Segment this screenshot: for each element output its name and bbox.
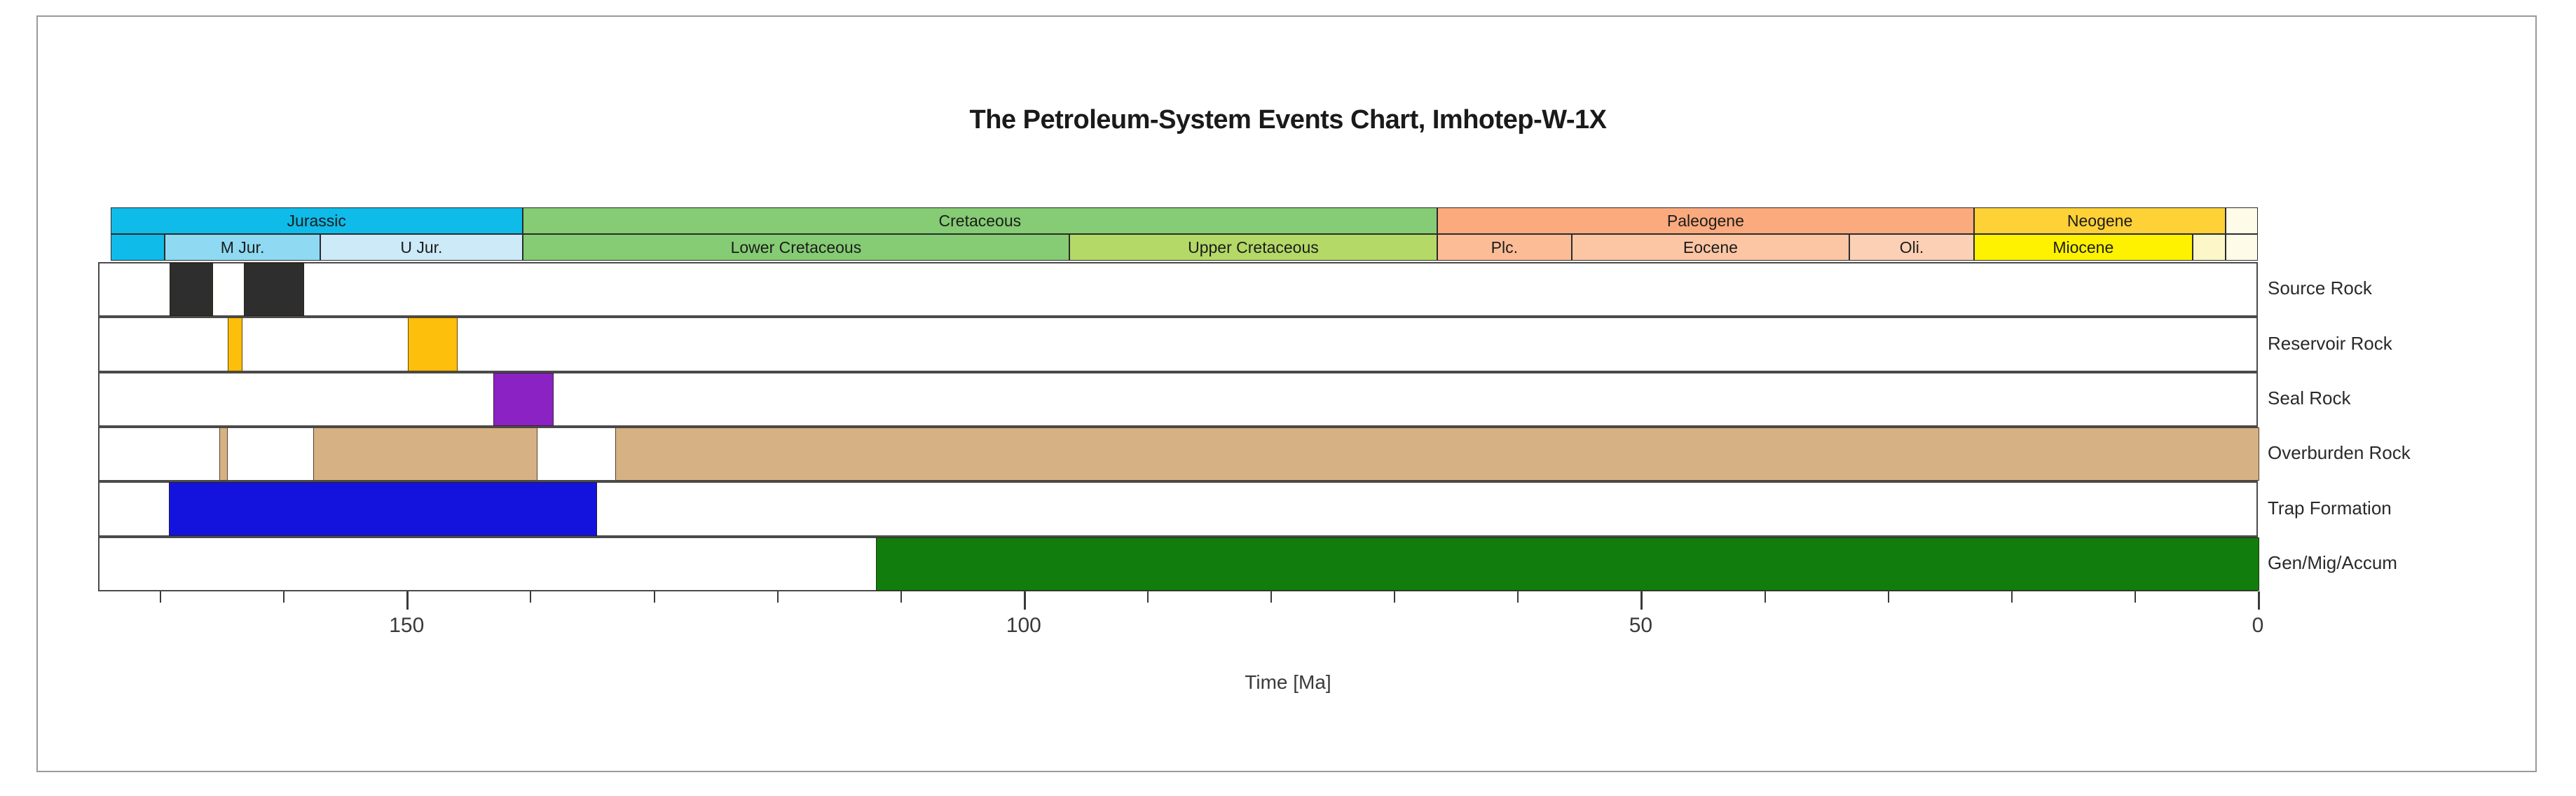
axis-tick-label: 0 (2252, 614, 2264, 638)
event-bar (244, 263, 304, 316)
timescale-period-label: Paleogene (1667, 212, 1744, 231)
timescale-epoch-label: Lower Cretaceous (731, 238, 862, 257)
timescale-epoch-miocene: Miocene (1974, 234, 2193, 261)
timescale-epoch-label: Upper Cretaceous (1188, 238, 1319, 257)
row-label-reservoir-rock: Reservoir Rock (2268, 333, 2392, 355)
timescale-period-paleogene: Paleogene (1437, 207, 1974, 234)
timescale-epoch-unlabeled-10 (2226, 234, 2258, 261)
axis-tick-label: 100 (1006, 614, 1041, 638)
timescale-period-jurassic: Jurassic (111, 207, 523, 234)
axis-minor-tick (530, 591, 531, 603)
event-bar (615, 427, 2259, 481)
timescale-epoch-label: Miocene (2053, 238, 2113, 257)
timescale-epoch-label: Oli. (1900, 238, 1924, 257)
timescale-period-row: JurassicCretaceousPaleogeneNeogene (98, 207, 2258, 234)
row-label-gen-mig-accum: Gen/Mig/Accum (2268, 552, 2397, 574)
event-bar (493, 373, 554, 426)
event-bar (219, 427, 228, 481)
chart-plot-area: JurassicCretaceousPaleogeneNeogene M Jur… (98, 207, 2258, 591)
axis-minor-tick (1394, 591, 1395, 603)
timescale-epoch-unlabeled-9 (2193, 234, 2226, 261)
event-row (98, 317, 2258, 371)
timescale-epoch-eocene: Eocene (1572, 234, 1849, 261)
event-row (98, 481, 2258, 536)
timescale-epoch-label: M Jur. (221, 238, 265, 257)
axis-minor-tick (2135, 591, 2136, 603)
timescale-period-cretaceous: Cretaceous (523, 207, 1437, 234)
row-label-overburden-rock: Overburden Rock (2268, 442, 2411, 464)
row-label-source-rock: Source Rock (2268, 277, 2372, 299)
timescale-epoch-label: Eocene (1683, 238, 1738, 257)
timescale-epoch-upper-cretaceous: Upper Cretaceous (1069, 234, 1437, 261)
timescale-period-unlabeled-4 (2226, 207, 2258, 234)
event-bar (169, 482, 597, 535)
event-bar (228, 317, 242, 371)
axis-minor-tick (160, 591, 161, 603)
axis-title: Time [Ma] (0, 671, 2576, 694)
event-bar (313, 427, 538, 481)
timescale-epoch-oli: Oli. (1849, 234, 1974, 261)
axis-minor-tick (654, 591, 655, 603)
axis-minor-tick (1270, 591, 1272, 603)
timescale-epoch-label: U Jur. (400, 238, 442, 257)
timescale-period-label: Cretaceous (939, 212, 1022, 231)
axis-tick-label: 150 (389, 614, 424, 638)
axis-minor-tick (900, 591, 902, 603)
timescale-period-label: Jurassic (287, 212, 346, 231)
row-label-trap-formation: Trap Formation (2268, 497, 2392, 519)
event-row (98, 372, 2258, 427)
event-row (98, 262, 2258, 317)
timescale-epoch-row: M Jur.U Jur.Lower CretaceousUpper Cretac… (98, 234, 2258, 261)
time-axis: 150100500 (98, 591, 2258, 592)
axis-major-tick (1640, 591, 1643, 610)
axis-minor-tick (1765, 591, 1766, 603)
event-row (98, 427, 2258, 481)
axis-minor-tick (1147, 591, 1149, 603)
timescale-epoch-u-jur: U Jur. (320, 234, 523, 261)
axis-minor-tick (283, 591, 285, 603)
axis-major-tick (406, 591, 409, 610)
timescale-epoch-lower-cretaceous: Lower Cretaceous (523, 234, 1069, 261)
axis-minor-tick (2011, 591, 2013, 603)
row-label-seal-rock: Seal Rock (2268, 387, 2351, 409)
axis-minor-tick (777, 591, 779, 603)
event-rows (98, 262, 2258, 591)
axis-major-tick (2258, 591, 2260, 610)
chart-title: The Petroleum-System Events Chart, Imhot… (0, 105, 2576, 135)
event-bar (876, 537, 2259, 591)
event-bar (408, 317, 457, 371)
timescale-epoch-plc: Plc. (1437, 234, 1572, 261)
axis-minor-tick (1888, 591, 1889, 603)
event-bar (170, 263, 213, 316)
timescale-epoch-unlabeled-0 (111, 234, 165, 261)
timescale-period-label: Neogene (2067, 212, 2132, 231)
timescale-epoch-label: Plc. (1491, 238, 1518, 257)
timescale-period-neogene: Neogene (1974, 207, 2226, 234)
axis-tick-label: 50 (1629, 614, 1652, 638)
axis-minor-tick (1517, 591, 1519, 603)
axis-major-tick (1024, 591, 1026, 610)
event-row (98, 537, 2258, 591)
timescale-epoch-m-jur: M Jur. (165, 234, 320, 261)
